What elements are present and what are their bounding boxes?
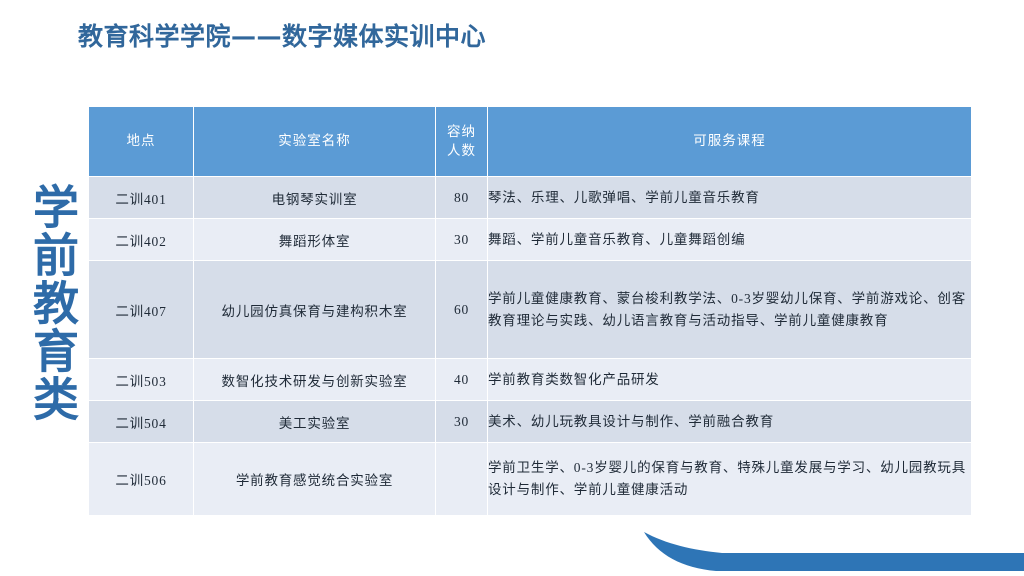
- cell-lab-name: 舞蹈形体室: [194, 219, 435, 260]
- column-header-capacity: 容纳 人数: [436, 107, 487, 176]
- cell-courses: 学前教育类数智化产品研发: [488, 359, 971, 400]
- cell-courses: 舞蹈、学前儿童音乐教育、儿童舞蹈创编: [488, 219, 971, 260]
- cell-lab-name: 学前教育感觉统合实验室: [194, 443, 435, 515]
- cell-capacity: 30: [436, 401, 487, 442]
- cell-lab-name: 电钢琴实训室: [194, 177, 435, 218]
- cell-location: 二训402: [89, 219, 193, 260]
- table-header-row: 地点 实验室名称 容纳 人数 可服务课程: [89, 107, 971, 176]
- page-title: 教育科学学院——数字媒体实训中心: [78, 17, 486, 53]
- lab-table: 地点 实验室名称 容纳 人数 可服务课程 二训401 电钢琴实训室 80 琴法、…: [88, 106, 972, 516]
- lab-table-container: 地点 实验室名称 容纳 人数 可服务课程 二训401 电钢琴实训室 80 琴法、…: [88, 106, 972, 516]
- column-header-capacity-line2: 人数: [447, 143, 476, 158]
- table-row: 二训506 学前教育感觉统合实验室 学前卫生学、0-3岁婴儿的保育与教育、特殊儿…: [89, 443, 971, 515]
- cell-lab-name: 幼儿园仿真保育与建构积木室: [194, 261, 435, 358]
- cell-capacity: [436, 443, 487, 515]
- cell-capacity: 80: [436, 177, 487, 218]
- column-header-courses: 可服务课程: [488, 107, 971, 176]
- cell-courses: 学前卫生学、0-3岁婴儿的保育与教育、特殊儿童发展与学习、幼儿园教玩具设计与制作…: [488, 443, 971, 515]
- swoosh-shape: [644, 532, 1024, 571]
- cell-capacity: 40: [436, 359, 487, 400]
- cell-capacity: 60: [436, 261, 487, 358]
- table-row: 二训401 电钢琴实训室 80 琴法、乐理、儿歌弹唱、学前儿童音乐教育: [89, 177, 971, 218]
- cell-lab-name: 美工实验室: [194, 401, 435, 442]
- swoosh-decoration: [644, 528, 1024, 576]
- table-body: 二训401 电钢琴实训室 80 琴法、乐理、儿歌弹唱、学前儿童音乐教育 二训40…: [89, 177, 971, 515]
- column-header-location: 地点: [89, 107, 193, 176]
- category-vertical-label: 学前教育类: [16, 118, 78, 488]
- column-header-lab-name: 实验室名称: [194, 107, 435, 176]
- cell-courses: 学前儿童健康教育、蒙台梭利教学法、0-3岁婴幼儿保育、学前游戏论、创客教育理论与…: [488, 261, 971, 358]
- table-row: 二训504 美工实验室 30 美术、幼儿玩教具设计与制作、学前融合教育: [89, 401, 971, 442]
- cell-location: 二训401: [89, 177, 193, 218]
- cell-location: 二训506: [89, 443, 193, 515]
- cell-lab-name: 数智化技术研发与创新实验室: [194, 359, 435, 400]
- table-row: 二训402 舞蹈形体室 30 舞蹈、学前儿童音乐教育、儿童舞蹈创编: [89, 219, 971, 260]
- cell-location: 二训504: [89, 401, 193, 442]
- column-header-capacity-line1: 容纳: [447, 124, 476, 139]
- table-header: 地点 实验室名称 容纳 人数 可服务课程: [89, 107, 971, 176]
- cell-courses: 琴法、乐理、儿歌弹唱、学前儿童音乐教育: [488, 177, 971, 218]
- table-row: 二训407 幼儿园仿真保育与建构积木室 60 学前儿童健康教育、蒙台梭利教学法、…: [89, 261, 971, 358]
- cell-courses: 美术、幼儿玩教具设计与制作、学前融合教育: [488, 401, 971, 442]
- cell-capacity: 30: [436, 219, 487, 260]
- table-row: 二训503 数智化技术研发与创新实验室 40 学前教育类数智化产品研发: [89, 359, 971, 400]
- cell-location: 二训503: [89, 359, 193, 400]
- cell-location: 二训407: [89, 261, 193, 358]
